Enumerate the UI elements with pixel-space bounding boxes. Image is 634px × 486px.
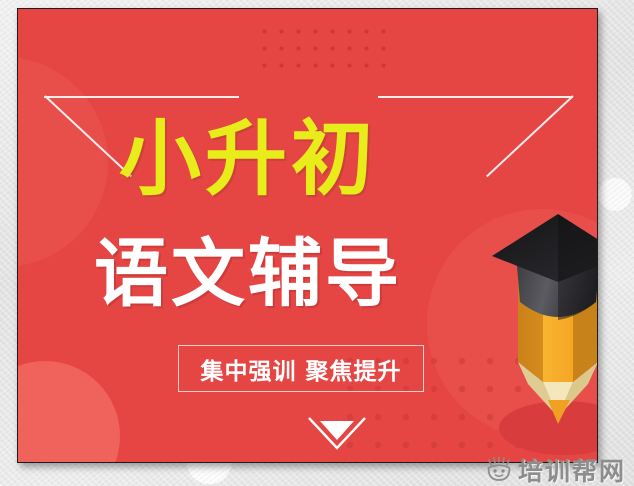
- page-title: 小升初: [18, 119, 478, 201]
- watermark: 培训帮网: [486, 452, 626, 486]
- decorative-circle-left-bottom: [17, 361, 120, 463]
- pencil-with-graduation-cap-icon: [488, 202, 598, 437]
- decorative-dot-grid-top: [256, 23, 398, 75]
- tagline-text: 集中强训 聚焦提升: [200, 352, 401, 386]
- tagline-box: 集中强训 聚焦提升: [178, 345, 424, 392]
- chevron-down-icon[interactable]: [303, 412, 371, 454]
- page-subtitle: 语文辅导: [18, 237, 478, 311]
- bracket-diagonal-line: [486, 95, 574, 177]
- bracket-horizontal-line: [44, 96, 239, 98]
- course-poster: 小升初 语文辅导 集中强训 聚焦提升: [17, 8, 598, 463]
- sun-face-icon: [486, 457, 512, 483]
- watermark-text: 培训帮网: [518, 452, 626, 486]
- bracket-horizontal-line: [378, 96, 573, 98]
